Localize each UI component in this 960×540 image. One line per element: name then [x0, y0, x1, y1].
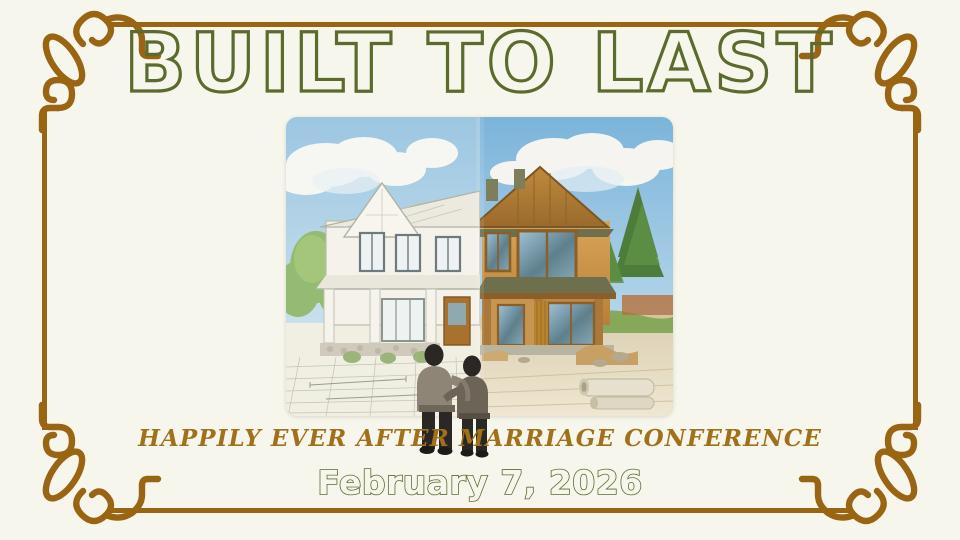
- artwork-frame: [286, 117, 673, 416]
- poster-canvas: BUILT TO LAST: [0, 0, 960, 540]
- page-title: BUILT TO LAST: [0, 22, 960, 106]
- event-subtitle: HAPPILY EVER AFTER MARRIAGE CONFERENCE: [0, 425, 960, 452]
- frame-line-left: [42, 110, 47, 430]
- split-house-illustration: [286, 117, 673, 416]
- frame-line-bottom: [108, 508, 852, 513]
- event-date: February 7, 2026: [0, 463, 960, 502]
- frame-line-right: [913, 110, 918, 430]
